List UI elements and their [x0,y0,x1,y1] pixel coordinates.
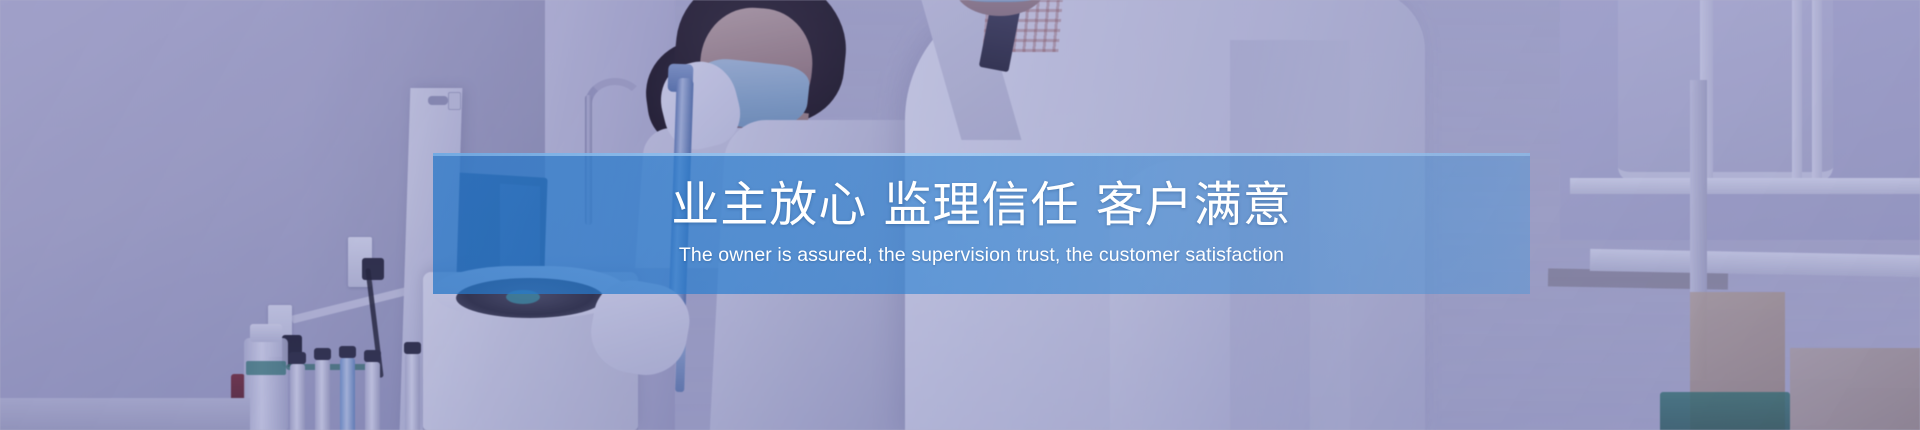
banner-text-block: 业主放心 监理信任 客户满意 The owner is assured, the… [433,153,1530,294]
hero-banner: 业主放心 监理信任 客户满意 The owner is assured, the… [0,0,1920,430]
banner-headline: 业主放心 监理信任 客户满意 [671,181,1292,229]
banner-subheadline: The owner is assured, the supervision tr… [679,246,1284,266]
